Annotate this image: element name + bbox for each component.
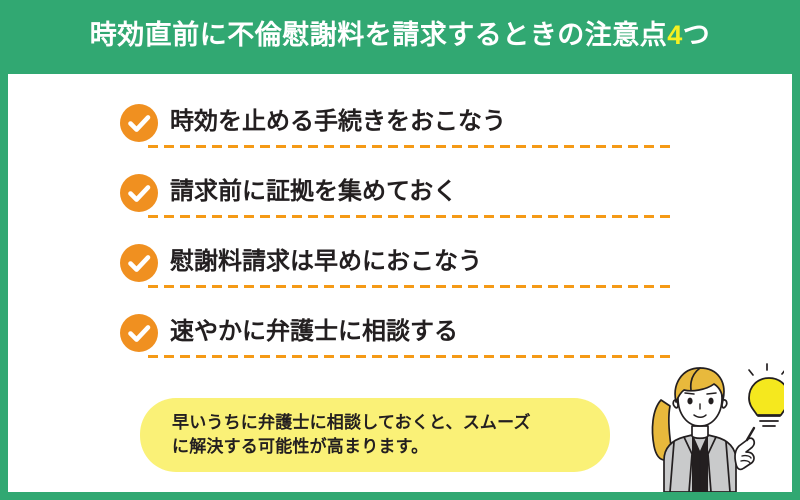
- page-title: 時効直前に不倫慰謝料を請求するときの注意点4つ: [90, 22, 711, 49]
- advice-callout: 早いうちに弁護士に相談しておくと、スムーズ に解決する可能性が高まります。: [140, 398, 610, 472]
- list-item: 慰謝料請求は早めにおこなう: [120, 240, 680, 310]
- advice-callout-line-1: 早いうちに弁護士に相談しておくと、スムーズ: [172, 411, 584, 435]
- dashed-divider: [148, 145, 670, 148]
- dashed-divider: [148, 215, 670, 218]
- header-banner: 時効直前に不倫慰謝料を請求するときの注意点4つ: [0, 0, 800, 70]
- check-circle-icon: [120, 104, 158, 142]
- check-circle-icon: [120, 244, 158, 282]
- checklist: 時効を止める手続きをおこなう 請求前に証拠を集めておく: [120, 100, 680, 380]
- check-circle-icon: [120, 174, 158, 212]
- page-title-main: 時効直前に不倫慰謝料を請求するときの注意点: [90, 20, 668, 50]
- page-title-suffix: つ: [683, 20, 711, 50]
- list-item-label: 慰謝料請求は早めにおこなう: [170, 240, 482, 284]
- content-card: 時効を止める手続きをおこなう 請求前に証拠を集めておく: [8, 74, 792, 492]
- advice-callout-line-2: に解決する可能性が高まります。: [172, 435, 584, 459]
- list-item-label: 時効を止める手続きをおこなう: [170, 100, 506, 144]
- dashed-divider: [148, 355, 670, 358]
- woman-with-idea-lightbulb-illustration: [634, 360, 784, 492]
- list-item: 時効を止める手続きをおこなう: [120, 100, 680, 170]
- list-item-label: 速やかに弁護士に相談する: [170, 310, 458, 354]
- list-item-label: 請求前に証拠を集めておく: [170, 170, 457, 214]
- list-item: 請求前に証拠を集めておく: [120, 170, 680, 240]
- lightbulb-icon: [749, 364, 784, 426]
- list-item: 速やかに弁護士に相談する: [120, 310, 680, 380]
- dashed-divider: [148, 285, 670, 288]
- page-title-count: 4: [667, 20, 683, 50]
- infographic-card: 時効直前に不倫慰謝料を請求するときの注意点4つ 時効を止める手続きをおこなう: [0, 0, 800, 500]
- check-circle-icon: [120, 314, 158, 352]
